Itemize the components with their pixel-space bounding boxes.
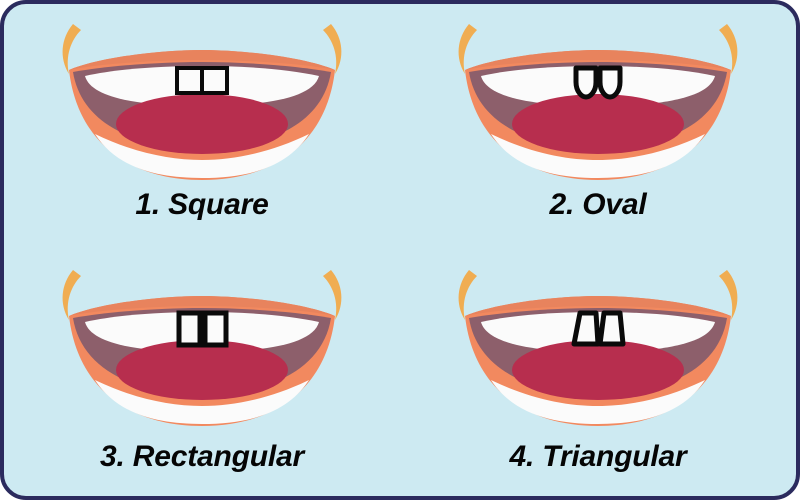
tooth-shape-triangular-icon bbox=[574, 313, 623, 344]
panel-oval[interactable]: 2. Oval bbox=[400, 4, 796, 250]
tongue bbox=[116, 94, 288, 154]
corner-flourish-right-icon bbox=[323, 24, 341, 74]
mouth-icon-triangular bbox=[433, 258, 763, 438]
mouth-icon-rectangular bbox=[37, 258, 367, 438]
panel-square[interactable]: 1. Square bbox=[4, 4, 400, 250]
panel-label-rectangular: 3. Rectangular bbox=[100, 440, 304, 474]
corner-flourish-left-icon bbox=[459, 270, 477, 320]
corner-flourish-right-icon bbox=[719, 270, 737, 320]
tooth-shape-rectangular-icon bbox=[179, 313, 226, 345]
panel-label-oval: 2. Oval bbox=[550, 188, 647, 222]
tooth-shape-chart-frame: 1. Square 2. Oval bbox=[0, 0, 800, 500]
panel-triangular[interactable]: 4. Triangular bbox=[400, 250, 796, 496]
corner-flourish-right-icon bbox=[323, 270, 341, 320]
panel-label-square: 1. Square bbox=[135, 188, 268, 222]
corner-flourish-left-icon bbox=[63, 24, 81, 74]
corner-flourish-right-icon bbox=[719, 24, 737, 74]
corner-flourish-left-icon bbox=[63, 270, 81, 320]
panel-grid: 1. Square 2. Oval bbox=[4, 4, 796, 496]
tongue bbox=[512, 340, 684, 400]
tooth-shape-square-icon bbox=[177, 68, 227, 93]
panel-rectangular[interactable]: 3. Rectangular bbox=[4, 250, 400, 496]
tongue bbox=[116, 340, 288, 400]
corner-flourish-left-icon bbox=[459, 24, 477, 74]
mouth-icon-oval bbox=[433, 12, 763, 192]
mouth-icon-square bbox=[37, 12, 367, 192]
tongue bbox=[512, 94, 684, 154]
panel-label-triangular: 4. Triangular bbox=[510, 440, 687, 474]
